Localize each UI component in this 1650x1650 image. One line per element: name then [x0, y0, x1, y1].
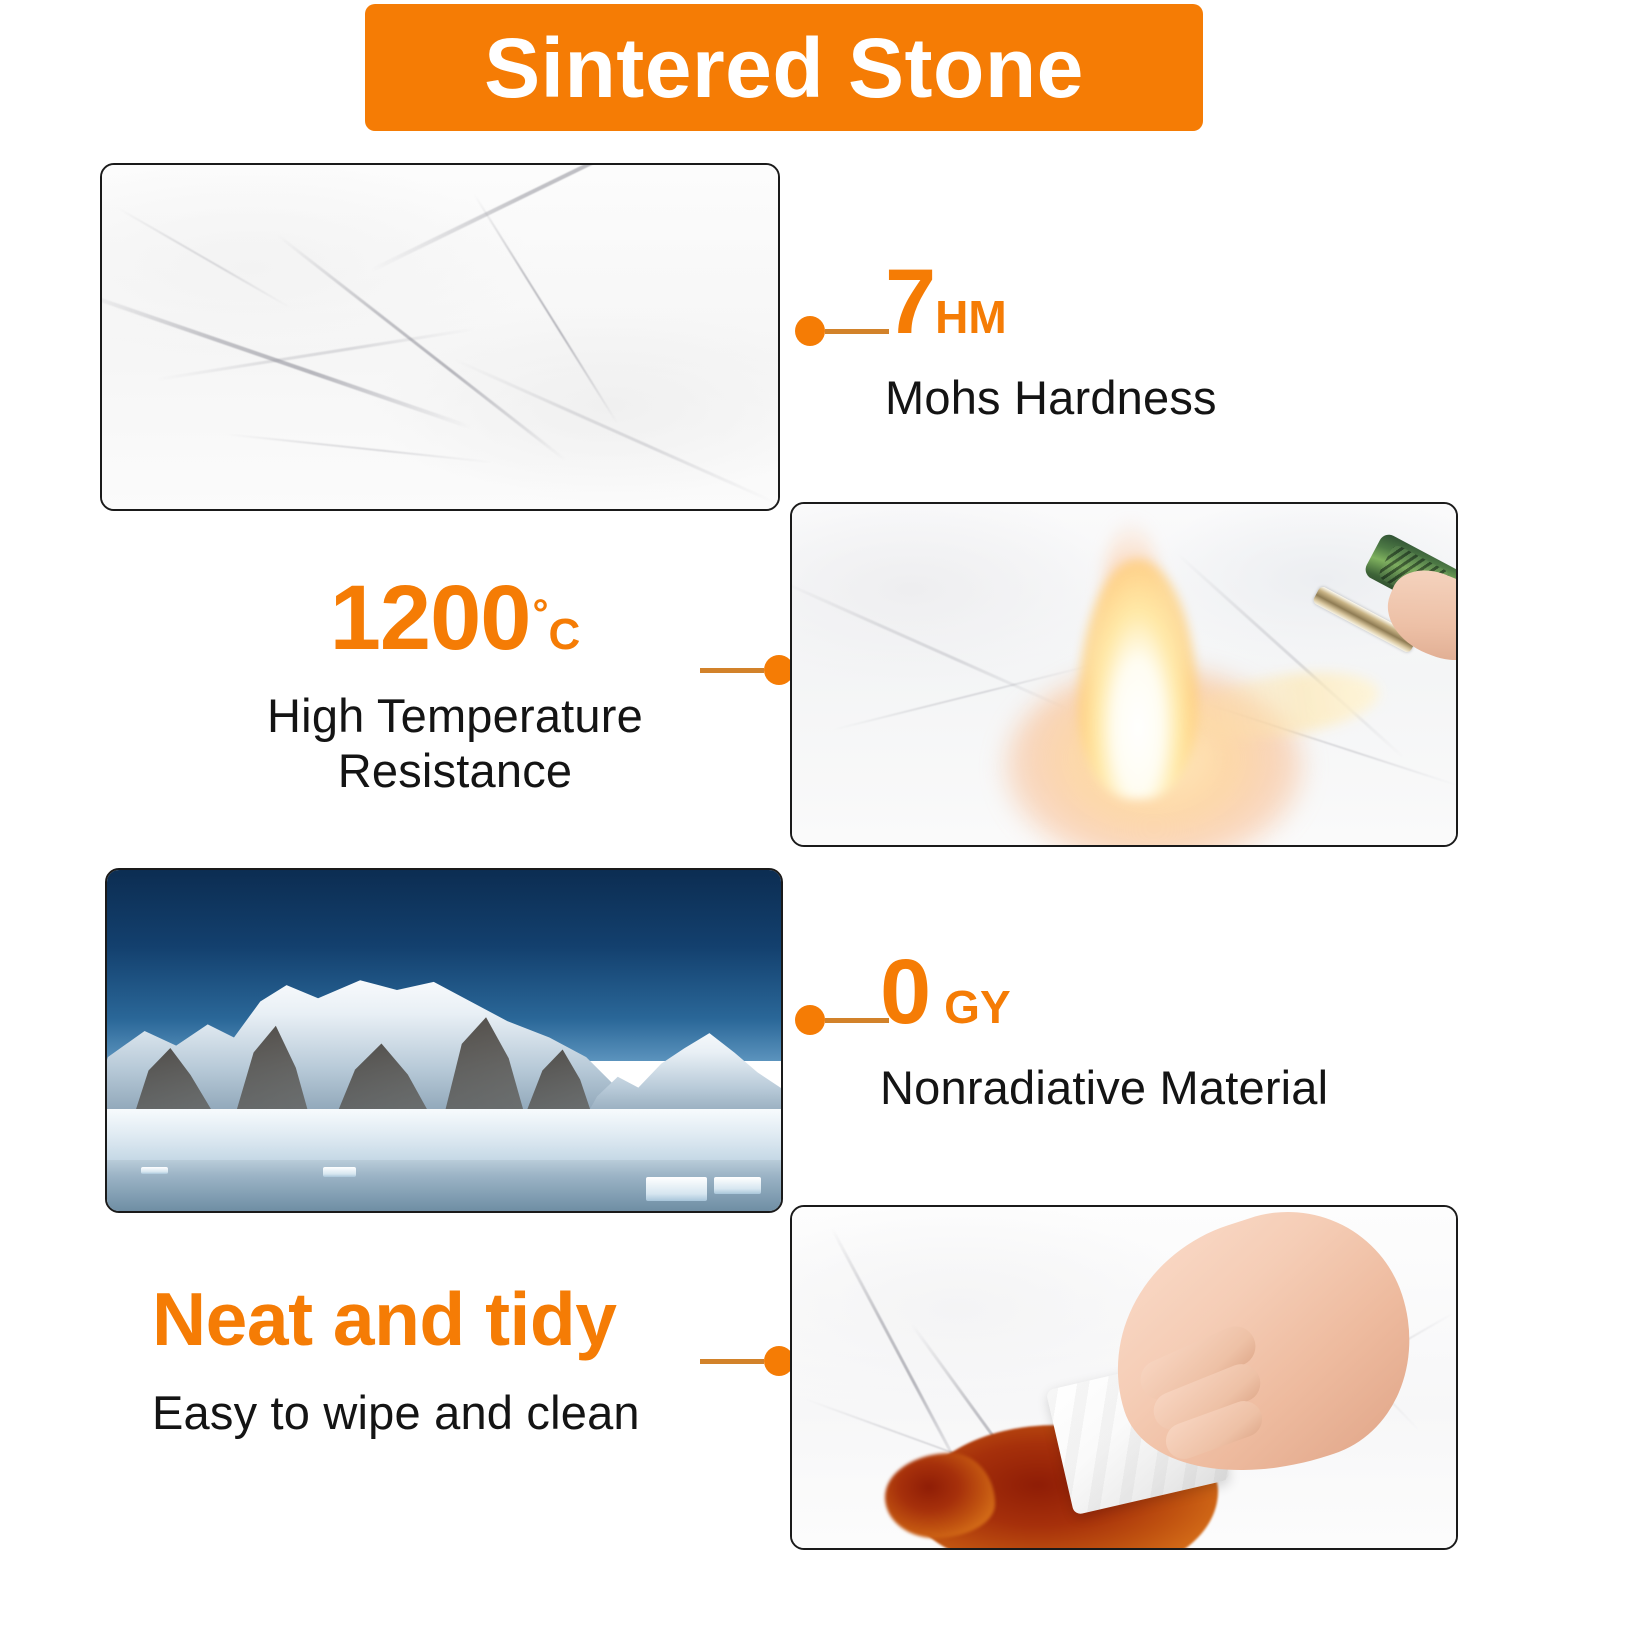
feature-description: High Temperature Resistance — [220, 688, 690, 799]
connector-nonradiative-material — [795, 1005, 889, 1035]
feature-image-nonradiative-material — [105, 868, 783, 1213]
connector-dot — [795, 1005, 825, 1035]
feature-description: Mohs Hardness — [885, 370, 1217, 425]
stat-unit: HM — [935, 294, 1007, 340]
degree-symbol: ° — [532, 594, 548, 634]
feature-image-high-temperature-resistance — [790, 502, 1458, 847]
page-title: Sintered Stone — [484, 26, 1084, 110]
connector-dot — [795, 316, 825, 346]
connector-easy-clean — [700, 1346, 794, 1376]
feature-callout-mohs-hardness: 7 HM Mohs Hardness — [885, 256, 1217, 425]
connector-line — [700, 668, 764, 673]
stat-mohs-hardness: 7 HM — [885, 256, 1217, 348]
connector-high-temperature-resistance — [700, 655, 794, 685]
marble-texture — [102, 165, 778, 509]
glacier-shelf — [107, 1109, 781, 1164]
feature-description: Easy to wipe and clean — [152, 1385, 640, 1440]
feature-image-easy-clean — [790, 1205, 1458, 1550]
stat-nonradiative: 0 GY — [880, 946, 1328, 1038]
stat-value: 7 — [885, 256, 935, 348]
feature-description: Nonradiative Material — [880, 1060, 1328, 1115]
stat-unit: GY — [944, 984, 1010, 1030]
iceberg — [714, 1177, 761, 1194]
infographic-page: Sintered Stone 7 HM Mohs Hardness 1200 ° — [0, 0, 1650, 1650]
feature-callout-nonradiative-material: 0 GY Nonradiative Material — [880, 946, 1328, 1115]
iceberg — [323, 1167, 357, 1177]
stat-value: 1200 — [330, 572, 531, 664]
stat-value: 0 — [880, 946, 930, 1038]
header-banner: Sintered Stone — [365, 4, 1203, 131]
feature-callout-easy-clean: Neat and tidy Easy to wipe and clean — [152, 1282, 640, 1440]
feature-callout-high-temperature-resistance: 1200 ° C High Temperature Resistance — [220, 572, 690, 799]
stat-unit: C — [548, 613, 580, 657]
connector-mohs-hardness — [795, 316, 889, 346]
connector-line — [700, 1359, 764, 1364]
feature-image-mohs-hardness — [100, 163, 780, 511]
feature-headline: Neat and tidy — [152, 1282, 640, 1357]
connector-line — [825, 329, 889, 334]
iceberg — [646, 1177, 707, 1201]
stat-high-temperature: 1200 ° C — [220, 572, 690, 664]
iceberg — [141, 1167, 168, 1174]
